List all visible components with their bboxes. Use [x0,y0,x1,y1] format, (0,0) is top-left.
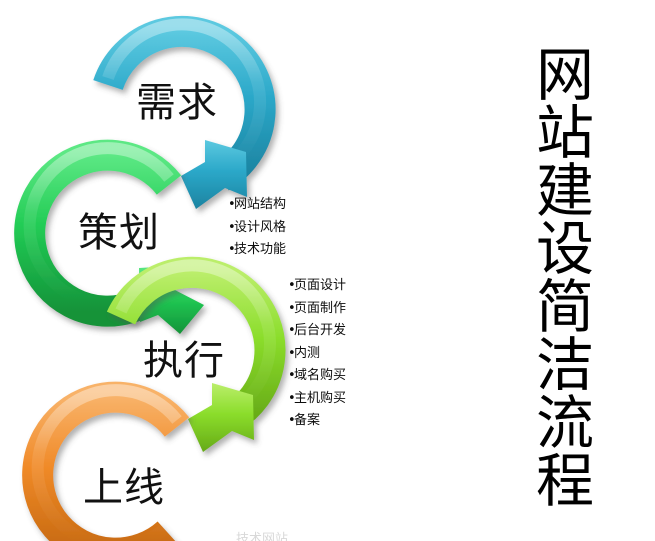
list-item: •技术功能 [228,239,286,262]
title-char: 建 [528,162,602,220]
bullet-list-execution-details: •页面设计 •页面制作 •后台开发 •内测 •域名购买 •主机购买 •备案 [288,275,346,433]
list-item: •网站结构 [228,194,286,217]
diagram-canvas: 需求 策划 执行 上线 •网站结构 •设计风格 •技术功能 •页面设计 •页面制… [0,0,655,541]
page-title: 网 站 建 设 简 洁 流 程 [528,46,602,510]
stage-label-execution: 执行 [143,328,225,386]
list-item-label: 主机购买 [294,391,346,406]
title-char: 洁 [528,336,602,394]
list-item-label: 域名购买 [294,368,346,383]
list-item-label: 设计风格 [234,220,286,235]
title-char: 程 [528,452,602,510]
list-item-label: 页面设计 [294,278,346,293]
list-item: •页面设计 [288,275,346,298]
stage-label-launch: 上线 [83,455,165,513]
list-item: •域名购买 [288,365,346,388]
title-char: 站 [528,104,602,162]
list-item: •设计风格 [228,217,286,240]
list-item-label: 技术功能 [234,242,286,257]
title-char: 设 [528,220,602,278]
list-item-label: 备案 [294,413,320,428]
title-char: 流 [528,394,602,452]
list-item: •备案 [288,410,346,433]
list-item: •主机购买 [288,388,346,411]
stage-label-requirement: 需求 [136,70,218,128]
list-item-label: 后台开发 [294,323,346,338]
list-item: •后台开发 [288,320,346,343]
list-item: •页面制作 [288,298,346,321]
stage-label-planning: 策划 [78,200,160,258]
title-char: 简 [528,278,602,336]
list-item-label: 网站结构 [234,197,286,212]
list-item-label: 页面制作 [294,301,346,316]
list-item-label: 内测 [294,346,320,361]
bullet-list-planning-details: •网站结构 •设计风格 •技术功能 [228,194,286,262]
list-item: •内测 [288,343,346,366]
title-char: 网 [528,46,602,104]
footer-watermark-text: 技术网站 [236,528,288,541]
